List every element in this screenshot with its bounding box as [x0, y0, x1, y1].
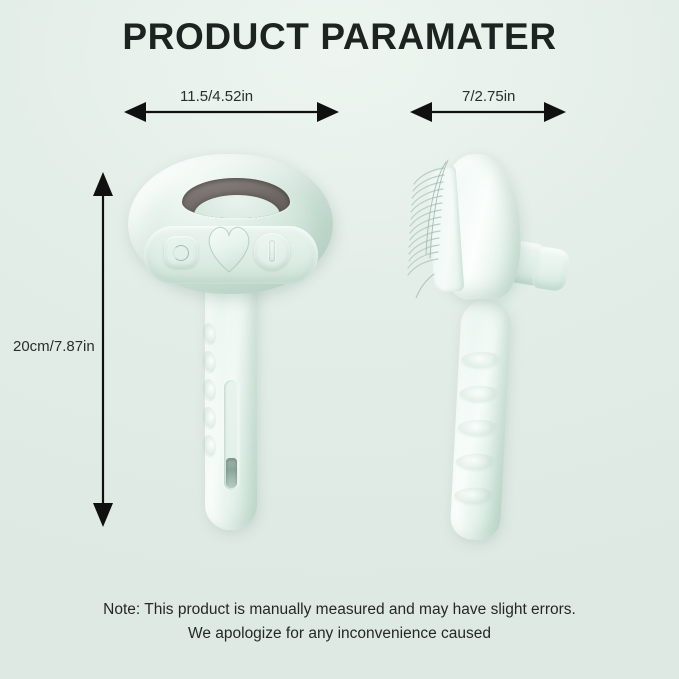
product-image-front-view [120, 148, 340, 543]
heart-power-button [202, 218, 256, 274]
note-line-2: We apologize for any inconvenience cause… [0, 622, 679, 646]
page-title: PRODUCT PARAMATER [0, 16, 679, 58]
arrow-width-front [124, 102, 339, 122]
handle-grip-ridge [200, 407, 216, 431]
mode-button [164, 236, 198, 268]
handle-grip-ridge [457, 419, 504, 441]
handle-grip-ridge [200, 379, 216, 403]
handle-grip-ridge [455, 453, 502, 475]
dimension-label-height: 20cm/7.87in [13, 338, 95, 355]
curved-display-window [182, 178, 290, 218]
release-slider-slot [224, 380, 239, 490]
product-handle-side [449, 299, 511, 541]
speed-button [254, 233, 290, 270]
product-image-side-view [400, 150, 590, 545]
arrow-total-height [93, 172, 113, 527]
heart-icon [202, 218, 256, 274]
handle-grip-ridge [200, 435, 216, 459]
handle-grip-ridge [200, 351, 216, 375]
product-parameter-page: PRODUCT PARAMATER 11.5/4.52in 7/2.75in 2… [0, 0, 679, 679]
dimension-label-width-side: 7/2.75in [462, 88, 515, 105]
vacuum-nozzle-tip [531, 246, 571, 293]
note-line-1: Note: This product is manually measured … [0, 598, 679, 622]
note-text: Note: This product is manually measured … [0, 598, 679, 646]
curved-bristle-pins [404, 158, 450, 298]
arrow-width-side [410, 102, 566, 122]
handle-grip-ridge [200, 323, 216, 347]
handle-grip-ridge [460, 351, 507, 373]
handle-grip-ridge [458, 385, 505, 407]
handle-grip-ridge [453, 487, 500, 509]
dimension-label-width-front: 11.5/4.52in [180, 88, 253, 105]
